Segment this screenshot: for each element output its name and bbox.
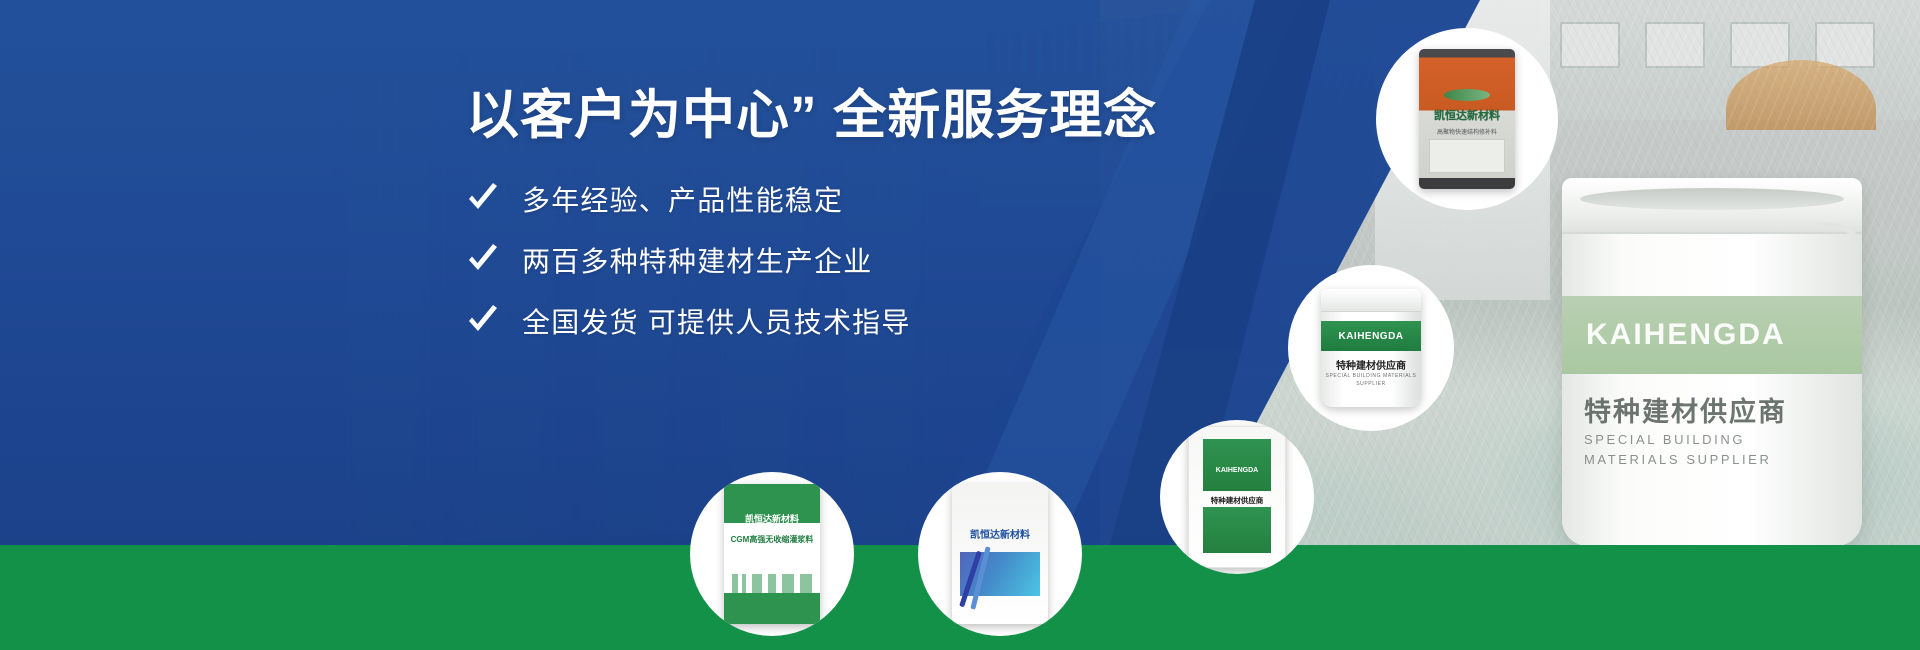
list-item: 多年经验、产品性能稳定 bbox=[466, 179, 1226, 219]
shelf-box bbox=[1645, 22, 1705, 68]
product-circle-bucket: KAIHENGDA 特种建材供应商 SPECIAL BUILDING MATER… bbox=[1288, 265, 1454, 431]
product-circle-bag-orange: 凯恒达新材料 高聚物快速结构修补料 bbox=[1376, 28, 1558, 210]
bucket-brand-band: KAIHENGDA bbox=[1321, 321, 1421, 351]
background-shelf bbox=[1540, 0, 1920, 120]
bucket-title-en-line2: MATERIALS SUPPLIER bbox=[1584, 450, 1771, 470]
bucket-title-en-line1: SPECIAL BUILDING bbox=[1584, 430, 1771, 450]
hero-banner: KAIHENGDA 特种建材供应商 SPECIAL BUILDING MATER… bbox=[0, 0, 1920, 650]
page-title: 以客户为中心” 全新服务理念 bbox=[466, 86, 1226, 145]
list-item-label: 全国发货 可提供人员技术指导 bbox=[522, 301, 911, 341]
product-panel-top bbox=[1203, 439, 1271, 491]
bucket-title-en: SPECIAL BUILDING MATERIALS SUPPLIER bbox=[1584, 430, 1771, 470]
background-orange-shape bbox=[1726, 60, 1876, 130]
list-item: 两百多种特种建材生产企业 bbox=[466, 240, 1226, 280]
bucket-brand-band: KAIHENGDA bbox=[1562, 296, 1862, 374]
bucket-title-cn: 特种建材供应商 bbox=[1584, 390, 1787, 429]
product-bag-blue: 凯恒达新材料 bbox=[952, 484, 1048, 624]
brand-swoosh-icon bbox=[1444, 89, 1490, 101]
brand-logo: KAIHENGDA bbox=[1189, 467, 1285, 474]
product-title-en: SPECIAL BUILDING MATERIALS SUPPLIER bbox=[1321, 373, 1421, 388]
check-icon bbox=[466, 243, 500, 277]
product-panel-bottom bbox=[1203, 507, 1271, 553]
list-item: 全国发货 可提供人员技术指导 bbox=[466, 301, 1226, 341]
list-item-label: 多年经验、产品性能稳定 bbox=[522, 179, 843, 219]
list-item-label: 两百多种特种建材生产企业 bbox=[522, 240, 872, 280]
hero-product-bucket: KAIHENGDA 特种建材供应商 SPECIAL BUILDING MATER… bbox=[1562, 178, 1862, 546]
brand-logo: KAIHENGDA bbox=[1586, 318, 1786, 352]
product-circle-bag-green: 凯恒达新材料 CGM高强无收缩灌浆料 bbox=[690, 472, 854, 636]
brand-logo: KAIHENGDA bbox=[1338, 331, 1403, 342]
feature-list: 多年经验、产品性能稳定 两百多种特种建材生产企业 全国发货 可提供人员技术指导 bbox=[466, 179, 1226, 341]
product-title-cn: 特种建材供应商 bbox=[1189, 495, 1285, 506]
product-brand-label: 凯恒达新材料 bbox=[1419, 107, 1515, 123]
shelf-box bbox=[1560, 22, 1620, 68]
check-icon bbox=[466, 182, 500, 216]
product-subtitle-label: 高聚物快速结构修补料 bbox=[1419, 127, 1515, 136]
shelf-box bbox=[1815, 22, 1875, 68]
product-circle-bag-white: KAIHENGDA 特种建材供应商 bbox=[1160, 420, 1314, 574]
product-brand-label: 凯恒达新材料 bbox=[724, 512, 820, 525]
product-circle-bag-blue: 凯恒达新材料 bbox=[918, 472, 1082, 636]
hero-content: 以客户为中心” 全新服务理念 多年经验、产品性能稳定 两百多种特种建材生产企业 … bbox=[466, 86, 1226, 362]
shelf-box bbox=[1730, 22, 1790, 68]
product-bag-orange: 凯恒达新材料 高聚物快速结构修补料 bbox=[1419, 49, 1515, 189]
bucket-lid bbox=[1321, 289, 1421, 312]
product-bag-white: KAIHENGDA 特种建材供应商 bbox=[1188, 426, 1286, 568]
product-bag-green: 凯恒达新材料 CGM高强无收缩灌浆料 bbox=[724, 484, 820, 624]
product-title-cn: 特种建材供应商 bbox=[1321, 357, 1421, 372]
check-icon bbox=[466, 304, 500, 338]
product-name-label: CGM高强无收缩灌浆料 bbox=[724, 534, 820, 545]
product-bucket: KAIHENGDA 特种建材供应商 SPECIAL BUILDING MATER… bbox=[1321, 289, 1421, 407]
product-brand-label: 凯恒达新材料 bbox=[952, 526, 1048, 541]
skyline-graphic bbox=[732, 574, 812, 600]
product-spec-panel bbox=[1429, 139, 1505, 173]
